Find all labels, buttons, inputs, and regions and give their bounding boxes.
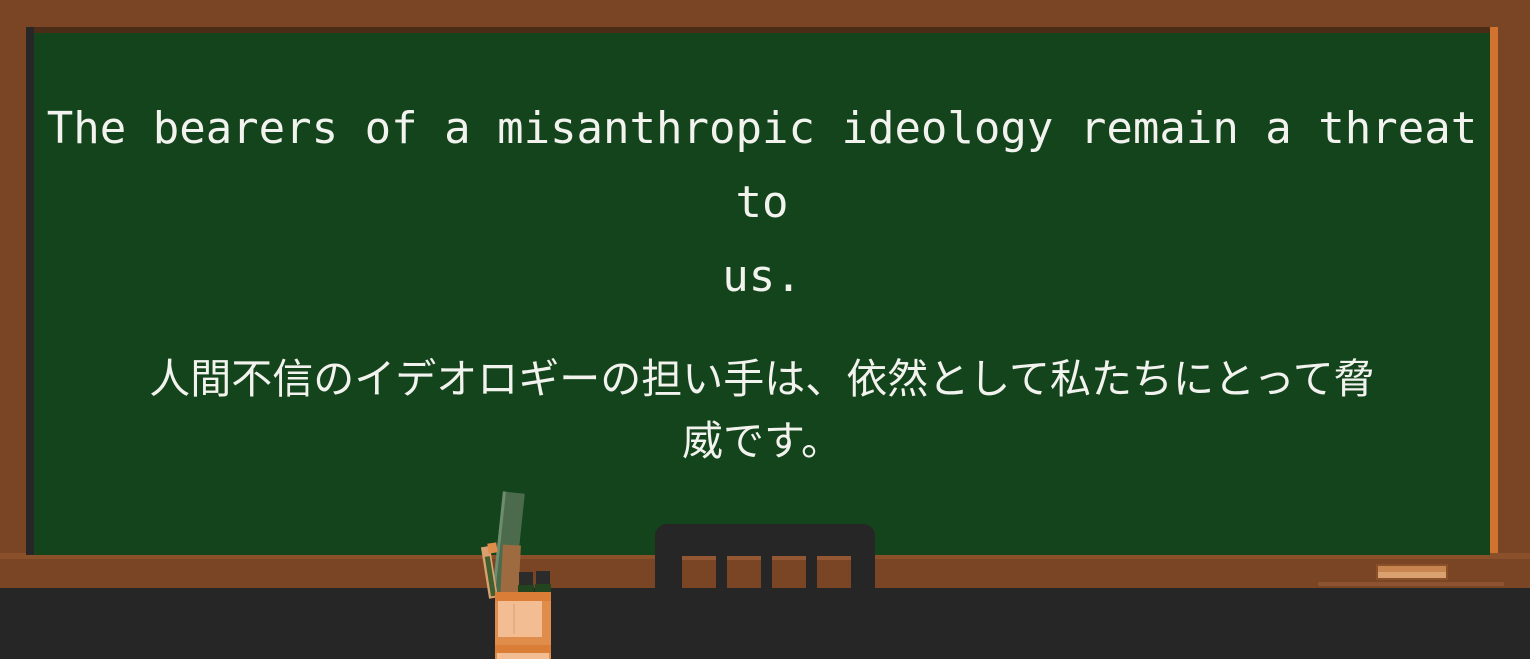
pencil-cup-base — [495, 645, 551, 653]
chalkboard-scene: The bearers of a misanthropic ideology r… — [0, 0, 1530, 659]
frame-right-highlight — [1489, 27, 1498, 553]
eraser-block-icon — [519, 572, 533, 586]
chalkboard-surface — [34, 33, 1490, 555]
pencil-cup-face — [498, 601, 542, 637]
shelf-slot — [772, 556, 806, 592]
desk-surface — [0, 588, 1530, 659]
pencil-cup-rim — [495, 592, 551, 601]
ledge-line — [1318, 582, 1504, 586]
shelf-slot — [682, 556, 716, 592]
chalk-eraser-felt — [1378, 572, 1446, 578]
frame-inner-shadow-left — [26, 27, 34, 555]
shelf-slot — [817, 556, 851, 592]
pencil-cup-foot — [497, 653, 549, 659]
pencil-cup-face-line — [513, 604, 515, 634]
pencil-tip — [487, 542, 497, 553]
shelf-slot — [727, 556, 761, 592]
